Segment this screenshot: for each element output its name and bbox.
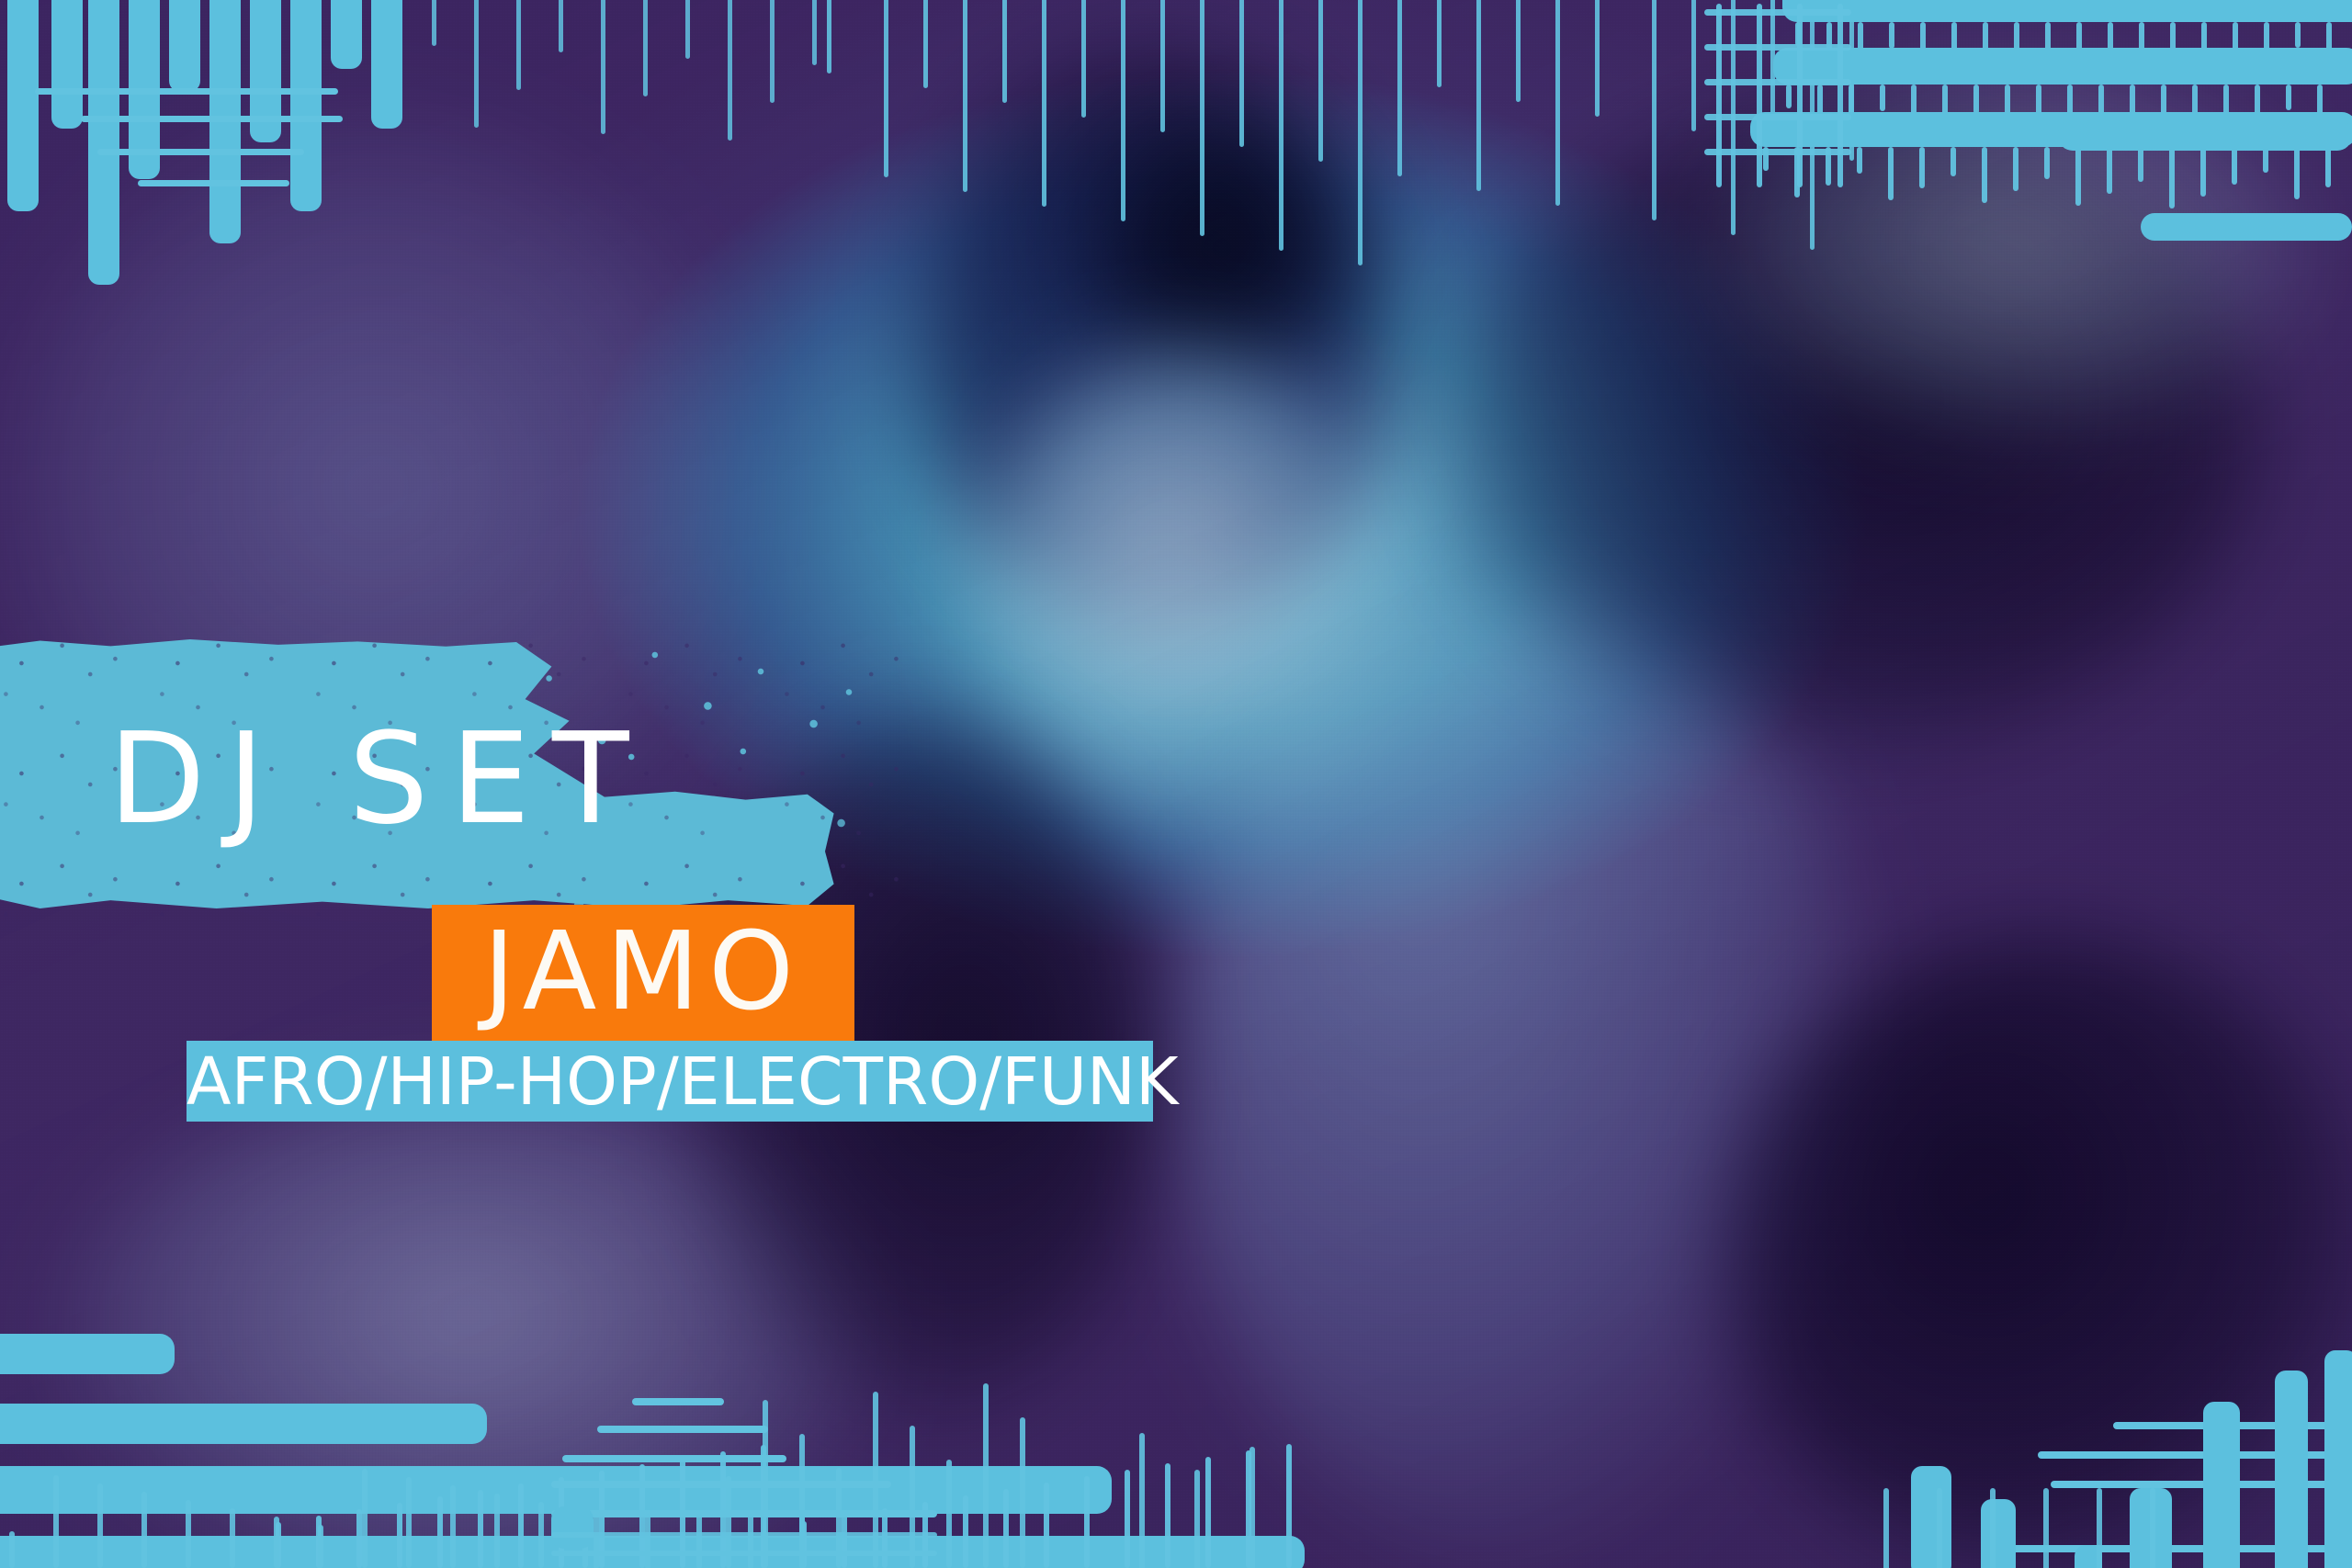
deco-top-right-tooth-2-8 bbox=[2013, 147, 2018, 191]
deco-top-vertical-line-b-7 bbox=[728, 0, 732, 141]
deco-top-vertical-line-15 bbox=[1437, 0, 1442, 87]
deco-top-vertical-line-b-1 bbox=[474, 0, 479, 128]
deco-top-vertical-line-12 bbox=[1318, 0, 1323, 162]
deco-bottom-tooth-left-3 bbox=[141, 1492, 147, 1568]
deco-center-bottom-line-1 bbox=[597, 1426, 768, 1433]
deco-top-right-grid-v-0 bbox=[1716, 4, 1722, 187]
deco-top-right-tooth-0-3 bbox=[1889, 22, 1894, 49]
deco-top-vertical-line-6 bbox=[1081, 0, 1086, 118]
deco-bottom-tooth-mid-8 bbox=[1020, 1417, 1025, 1568]
deco-top-vertical-line-17 bbox=[1516, 0, 1521, 102]
deco-top-right-grid-v-1 bbox=[1757, 4, 1762, 187]
deco-top-right-tooth-2-14 bbox=[2200, 147, 2206, 197]
deco-top-right-bar-extra-1 bbox=[2141, 213, 2352, 241]
deco-top-right-tooth-2-3 bbox=[1857, 147, 1862, 174]
deco-top-right-bar-0 bbox=[1782, 0, 2352, 22]
deco-top-right-tooth-2-7 bbox=[1982, 147, 1987, 203]
deco-bottom-right-bar-5 bbox=[2275, 1371, 2308, 1568]
genre-box: AFRO/HIP-HOP/ELECTRO/FUNK bbox=[187, 1041, 1153, 1122]
deco-top-right-grid-h-4 bbox=[1704, 149, 1851, 155]
deco-top-right-tooth-2-16 bbox=[2263, 147, 2268, 173]
deco-bottom-tooth-25 bbox=[1286, 1444, 1292, 1568]
deco-top-right-bar-1 bbox=[1773, 48, 2352, 85]
deco-top-right-tooth-2-18 bbox=[2325, 147, 2331, 187]
deco-left-accent-0 bbox=[0, 1334, 147, 1371]
deco-top-vertical-line-3 bbox=[963, 0, 967, 192]
deco-top-vertical-line-13 bbox=[1358, 0, 1363, 265]
deco-top-vertical-line-b-5 bbox=[643, 0, 648, 96]
deco-top-right-grid-v-3 bbox=[1837, 4, 1843, 187]
deco-top-left-bar-7 bbox=[290, 0, 322, 211]
deco-top-right-grid-h-3 bbox=[1704, 114, 1851, 120]
deco-bottom-tooth-6 bbox=[518, 1483, 524, 1568]
deco-bottom-right-v-5 bbox=[2150, 1488, 2155, 1568]
deco-top-vertical-line-b-6 bbox=[685, 0, 690, 59]
deco-top-vertical-line-1 bbox=[884, 0, 888, 177]
deco-bottom-tooth-22 bbox=[1165, 1463, 1170, 1568]
deco-top-left-bar-9 bbox=[371, 0, 402, 129]
deco-bottom-tooth-left-10 bbox=[450, 1485, 456, 1568]
deco-top-right-grid-v-2 bbox=[1797, 4, 1803, 187]
deco-center-bottom-v-2 bbox=[696, 1514, 702, 1568]
deco-top-vertical-line-11 bbox=[1279, 0, 1283, 251]
deco-bottom-tooth-left-2 bbox=[97, 1483, 103, 1568]
deco-top-right-tooth-2-10 bbox=[2075, 147, 2081, 206]
deco-top-left-line-1 bbox=[81, 116, 343, 122]
deco-top-right-grid-h-1 bbox=[1704, 44, 1851, 51]
deco-top-vertical-line-b-2 bbox=[516, 0, 521, 90]
deco-top-vertical-line-0 bbox=[827, 0, 831, 73]
deco-top-vertical-line-16 bbox=[1476, 0, 1481, 191]
headline-dj-set: DJ SET bbox=[108, 716, 651, 842]
deco-bottom-right-bar-0 bbox=[1911, 1466, 1951, 1568]
deco-top-vertical-line-5 bbox=[1042, 0, 1046, 207]
deco-top-vertical-line-b-3 bbox=[559, 0, 563, 52]
deco-top-vertical-line-b-9 bbox=[812, 0, 817, 65]
deco-bottom-right-v-0 bbox=[1883, 1488, 1889, 1568]
deco-bottom-tooth-21 bbox=[1125, 1470, 1130, 1568]
deco-top-vertical-line-21 bbox=[1691, 0, 1696, 131]
deco-top-right-tooth-2-15 bbox=[2232, 147, 2237, 185]
deco-top-right-grid-h-2 bbox=[1704, 79, 1851, 85]
deco-bottom-tooth-left-8 bbox=[362, 1469, 367, 1568]
deco-top-right-bar-extra-0 bbox=[2058, 119, 2352, 151]
deco-bottom-tooth-17 bbox=[963, 1495, 968, 1568]
deco-bottom-tooth-mid-4 bbox=[873, 1392, 878, 1568]
deco-bottom-tooth-19 bbox=[1044, 1483, 1049, 1568]
deco-bottom-tooth-3 bbox=[397, 1503, 402, 1568]
deco-center-bottom-line-4 bbox=[551, 1510, 937, 1517]
deco-top-left-bar-0 bbox=[7, 0, 39, 211]
deco-center-bottom-line-b-0 bbox=[551, 1532, 937, 1538]
deco-bottom-tooth-20 bbox=[1084, 1476, 1090, 1568]
deco-bottom-left-bar-2 bbox=[0, 1466, 1112, 1514]
deco-mid-vertical-1 bbox=[1194, 1470, 1200, 1568]
deco-bottom-right-v-3 bbox=[2043, 1488, 2049, 1568]
deco-bottom-tooth-4 bbox=[437, 1496, 443, 1568]
deco-center-bottom-line-3 bbox=[551, 1481, 891, 1488]
deco-bottom-right-v-4 bbox=[2097, 1488, 2102, 1568]
deco-bottom-tooth-14 bbox=[842, 1515, 847, 1568]
deco-top-vertical-line-14 bbox=[1397, 0, 1402, 176]
deco-top-right-tooth-2-5 bbox=[1919, 147, 1925, 188]
deco-mid-vertical-0 bbox=[1139, 1433, 1145, 1568]
deco-top-right-tooth-1-3 bbox=[1880, 85, 1885, 111]
deco-bottom-right-bar-4 bbox=[2203, 1402, 2240, 1568]
deco-top-vertical-line-8 bbox=[1160, 0, 1165, 132]
deco-center-bottom-v-4 bbox=[799, 1514, 805, 1568]
deco-center-bottom-v-0 bbox=[594, 1514, 599, 1568]
deco-top-vertical-line-19 bbox=[1595, 0, 1600, 117]
deco-bottom-tooth-23 bbox=[1205, 1457, 1211, 1568]
deco-bottom-tooth-left-9 bbox=[406, 1477, 412, 1568]
deco-bottom-right-v-2 bbox=[1990, 1488, 1996, 1568]
deco-top-left-line-0 bbox=[35, 88, 338, 95]
deco-top-right-tooth-2-11 bbox=[2107, 147, 2112, 194]
deco-mid-vertical-2 bbox=[1249, 1447, 1255, 1568]
deco-top-left-line-3 bbox=[138, 180, 289, 186]
deco-bottom-tooth-18 bbox=[1003, 1489, 1009, 1568]
deco-top-left-bar-2 bbox=[88, 0, 119, 285]
deco-bottom-right-bar-6 bbox=[2324, 1350, 2352, 1568]
deco-top-vertical-line-7 bbox=[1121, 0, 1125, 221]
deco-bottom-tooth-5 bbox=[478, 1490, 483, 1568]
deco-bottom-tooth-left-1 bbox=[53, 1475, 59, 1568]
deco-top-left-bar-8 bbox=[331, 0, 362, 69]
deco-top-vertical-line-2 bbox=[923, 0, 928, 88]
deco-top-vertical-line-10 bbox=[1239, 0, 1244, 147]
deco-top-right-tooth-2-4 bbox=[1888, 147, 1894, 200]
deco-top-right-tooth-1-0 bbox=[1786, 85, 1792, 108]
deco-top-vertical-line-b-0 bbox=[432, 0, 436, 46]
poster-canvas: DJ SET JAMO AFRO/HIP-HOP/ELECTRO/FUNK bbox=[0, 0, 2352, 1568]
deco-bottom-tooth-left-5 bbox=[230, 1508, 235, 1568]
deco-bottom-tooth-left-6 bbox=[274, 1517, 279, 1568]
deco-top-left-bar-4 bbox=[169, 0, 200, 92]
deco-bottom-tooth-left-0 bbox=[9, 1531, 15, 1568]
artist-name-box: JAMO bbox=[432, 905, 854, 1041]
deco-top-right-tooth-2-9 bbox=[2044, 147, 2050, 179]
deco-center-bottom-v-3 bbox=[748, 1514, 753, 1568]
deco-top-vertical-line-b-8 bbox=[770, 0, 775, 103]
deco-top-vertical-line-4 bbox=[1002, 0, 1007, 103]
deco-top-right-tooth-2-12 bbox=[2138, 147, 2143, 182]
deco-center-bottom-v-1 bbox=[645, 1514, 650, 1568]
deco-top-right-tooth-0-16 bbox=[2295, 22, 2301, 48]
genre-label: AFRO/HIP-HOP/ELECTRO/FUNK bbox=[187, 1045, 1153, 1119]
deco-top-right-tooth-1-16 bbox=[2286, 85, 2291, 110]
deco-bottom-tooth-left-11 bbox=[494, 1494, 500, 1568]
deco-top-vertical-line-9 bbox=[1200, 0, 1204, 236]
deco-top-left-line-2 bbox=[97, 149, 304, 155]
deco-top-right-tooth-1-6 bbox=[1973, 85, 1979, 114]
deco-center-bottom-line-b-1 bbox=[551, 1551, 937, 1556]
deco-bottom-tooth-mid-6 bbox=[946, 1460, 952, 1568]
deco-bottom-tooth-left-12 bbox=[538, 1502, 544, 1568]
deco-top-right-tooth-2-6 bbox=[1951, 147, 1956, 176]
deco-top-right-tooth-2-13 bbox=[2169, 147, 2175, 209]
deco-bottom-right-bar-1 bbox=[1981, 1499, 2016, 1568]
deco-top-left-bar-1 bbox=[51, 0, 83, 129]
deco-center-bottom-square bbox=[551, 1506, 594, 1549]
deco-center-bottom-line-0 bbox=[632, 1398, 724, 1405]
deco-bottom-right-v-1 bbox=[1937, 1488, 1942, 1568]
deco-bottom-left-bar-1 bbox=[0, 1404, 487, 1444]
deco-bottom-tooth-mid-7 bbox=[983, 1383, 989, 1568]
deco-top-vertical-line-b-4 bbox=[601, 0, 605, 134]
deco-top-right-tooth-2-17 bbox=[2294, 147, 2300, 199]
deco-top-right-grid-h-0 bbox=[1704, 9, 1851, 16]
deco-center-bottom-line-2 bbox=[562, 1455, 786, 1462]
deco-bottom-tooth-mid-5 bbox=[910, 1426, 915, 1568]
deco-bottom-tooth-left-7 bbox=[318, 1525, 323, 1568]
deco-bottom-tooth-left-4 bbox=[186, 1500, 191, 1568]
deco-top-vertical-line-18 bbox=[1555, 0, 1560, 206]
deco-top-vertical-line-20 bbox=[1652, 0, 1657, 220]
artist-name-label: JAMO bbox=[432, 910, 854, 1032]
